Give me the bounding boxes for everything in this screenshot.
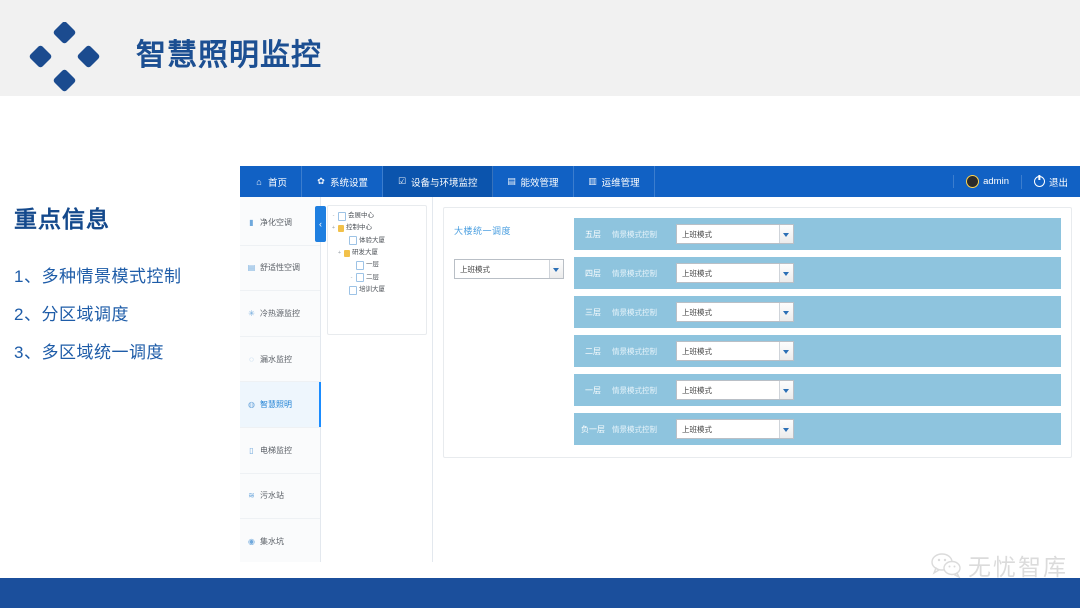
nav-item-home[interactable]: ⌂ 首页 — [240, 166, 302, 197]
floor-mode-select[interactable]: 上班模式 — [676, 419, 794, 439]
device-tree: - 会展中心 + 控制中心 体验大厦 + — [327, 205, 427, 335]
tree-node[interactable]: - 会展中心 — [331, 210, 423, 222]
document-icon — [349, 236, 357, 245]
tree-node-label: 研发大厦 — [352, 247, 378, 259]
tree-node[interactable]: + 控制中心 — [331, 222, 423, 234]
tree-node[interactable]: 培训大厦 — [331, 284, 423, 296]
sidebar-collapse-handle[interactable]: ‹ — [315, 206, 326, 242]
key-info-block: 重点信息 1、多种情景模式控制 2、分区域调度 3、多区域统一调度 — [14, 200, 244, 382]
watermark-text: 无忧智库 — [968, 548, 1068, 582]
scene-mode-control-label: 情景模式控制 — [612, 229, 670, 240]
nav-item-label: 设备与环境监控 — [411, 175, 478, 189]
key-info-item: 2、分区域调度 — [14, 306, 244, 324]
floor-row: 一层 情景模式控制 上班模式 — [574, 374, 1061, 406]
document-icon — [356, 273, 364, 282]
nav-item-label: 运维管理 — [602, 175, 640, 189]
sidebar-item-label: 电梯监控 — [260, 445, 292, 456]
sidebar-item-sump-pit[interactable]: ◉ 集水坑 — [240, 519, 320, 562]
monitor-icon: ☑ — [397, 176, 407, 187]
floor-label: 五层 — [580, 229, 606, 240]
snowflake-icon: ✳ — [247, 309, 256, 318]
floor-mode-select[interactable]: 上班模式 — [676, 263, 794, 283]
sump-icon: ◉ — [247, 537, 256, 546]
tree-node[interactable]: 体验大厦 — [331, 235, 423, 247]
global-mode-select[interactable]: 上班模式 — [454, 259, 564, 279]
footer-bar — [0, 578, 1080, 608]
tree-toggle-icon[interactable]: - — [331, 211, 336, 221]
diamond-logo — [28, 22, 100, 92]
tree-node-label: 体验大厦 — [359, 235, 385, 247]
sidebar-item-label: 净化空调 — [260, 217, 292, 228]
watermark: 无忧智库 — [931, 548, 1068, 582]
floor-label: 三层 — [580, 307, 606, 318]
sidebar-item-label: 冷热源监控 — [260, 308, 300, 319]
ac-icon: ▤ — [247, 263, 256, 272]
bulb-icon: ◍ — [247, 400, 256, 409]
floor-label: 一层 — [580, 385, 606, 396]
power-icon — [1034, 176, 1045, 187]
slide-header: 智慧照明监控 — [0, 0, 1080, 96]
floor-label: 二层 — [580, 346, 606, 357]
app-navbar: ⌂ 首页 ✿ 系统设置 ☑ 设备与环境监控 ▤ 能效管理 ▥ 运维管理 — [240, 166, 1080, 197]
water-drop-icon: ◌ — [247, 355, 256, 364]
floor-row: 二层 情景模式控制 上班模式 — [574, 335, 1061, 367]
floor-rows: 五层 情景模式控制 上班模式 四层 情景模式控制 上班模式 — [574, 218, 1061, 445]
nav-item-label: 系统设置 — [330, 175, 368, 189]
nav-item-system-settings[interactable]: ✿ 系统设置 — [302, 166, 383, 197]
folder-icon — [344, 250, 350, 257]
tree-node-label: 培训大厦 — [359, 284, 385, 296]
wechat-icon — [931, 552, 961, 578]
sidebar-item-label: 集水坑 — [260, 536, 284, 547]
floor-mode-select[interactable]: 上班模式 — [676, 341, 794, 361]
floor-mode-value: 上班模式 — [682, 307, 712, 318]
logout-label: 退出 — [1049, 175, 1068, 189]
floor-row: 四层 情景模式控制 上班模式 — [574, 257, 1061, 289]
wrench-icon: ▥ — [588, 176, 598, 187]
global-schedule-group: 大楼统一调度 上班模式 — [454, 218, 564, 445]
key-info-item: 3、多区域统一调度 — [14, 344, 244, 362]
document-icon — [356, 261, 364, 270]
scene-mode-control-label: 情景模式控制 — [612, 424, 670, 435]
floor-row: 三层 情景模式控制 上班模式 — [574, 296, 1061, 328]
user-menu[interactable]: admin — [953, 175, 1021, 188]
floor-row: 负一层 情景模式控制 上班模式 — [574, 413, 1061, 445]
global-mode-value: 上班模式 — [460, 264, 490, 275]
nav-item-operations-management[interactable]: ▥ 运维管理 — [574, 166, 655, 197]
document-icon — [349, 286, 357, 295]
floor-label: 负一层 — [580, 424, 606, 435]
home-icon: ⌂ — [254, 177, 264, 187]
avatar — [966, 175, 979, 188]
tree-node[interactable]: - 二层 — [331, 272, 423, 284]
content-area: 大楼统一调度 上班模式 五层 情景模式控制 上班模式 — [433, 197, 1080, 562]
sidebar-item-purified-ac[interactable]: ▮ 净化空调 — [240, 200, 320, 246]
floor-mode-select[interactable]: 上班模式 — [676, 224, 794, 244]
user-name: admin — [983, 176, 1009, 187]
sidebar-item-label: 污水站 — [260, 490, 284, 501]
sidebar-item-label: 舒适性空调 — [260, 262, 300, 273]
key-info-item: 1、多种情景模式控制 — [14, 268, 244, 286]
floor-label: 四层 — [580, 268, 606, 279]
sidebar-item-label: 智慧照明 — [260, 399, 292, 410]
app-body: ‹ ▮ 净化空调 ▤ 舒适性空调 ✳ 冷热源监控 ◌ 漏水监控 — [240, 197, 1080, 562]
tree-toggle-icon[interactable]: + — [337, 248, 342, 258]
elevator-icon: ▯ — [247, 446, 256, 455]
scene-mode-control-label: 情景模式控制 — [612, 346, 670, 357]
sidebar-item-leak-monitoring[interactable]: ◌ 漏水监控 — [240, 337, 320, 383]
scene-control-panel: 大楼统一调度 上班模式 五层 情景模式控制 上班模式 — [443, 207, 1072, 458]
sidebar-item-cooling-heating-source[interactable]: ✳ 冷热源监控 — [240, 291, 320, 337]
tree-node-label: 二层 — [366, 272, 379, 284]
floor-mode-value: 上班模式 — [682, 346, 712, 357]
gear-icon: ✿ — [316, 176, 326, 187]
global-schedule-label: 大楼统一调度 — [454, 224, 564, 237]
floor-mode-value: 上班模式 — [682, 385, 712, 396]
scene-mode-control-label: 情景模式控制 — [612, 385, 670, 396]
app-sidebar: ‹ ▮ 净化空调 ▤ 舒适性空调 ✳ 冷热源监控 ◌ 漏水监控 — [240, 197, 321, 562]
fan-icon: ▮ — [247, 218, 256, 227]
sidebar-item-comfort-ac[interactable]: ▤ 舒适性空调 — [240, 246, 320, 292]
nav-spacer — [655, 166, 954, 197]
folder-icon — [338, 225, 344, 232]
tree-node-label: 会展中心 — [348, 210, 374, 222]
tree-toggle-icon[interactable]: + — [331, 223, 336, 233]
nav-item-energy-management[interactable]: ▤ 能效管理 — [493, 166, 574, 197]
floor-mode-value: 上班模式 — [682, 424, 712, 435]
app-screenshot: ⌂ 首页 ✿ 系统设置 ☑ 设备与环境监控 ▤ 能效管理 ▥ 运维管理 — [240, 166, 1080, 562]
nav-item-label: 能效管理 — [521, 175, 559, 189]
floor-mode-value: 上班模式 — [682, 268, 712, 279]
floor-mode-value: 上班模式 — [682, 229, 712, 240]
slide-root: 智慧照明监控 重点信息 1、多种情景模式控制 2、分区域调度 3、多区域统一调度… — [0, 0, 1080, 608]
tree-node[interactable]: + 研发大厦 — [331, 247, 423, 259]
sidebar-item-sewage-station[interactable]: ≋ 污水站 — [240, 474, 320, 520]
key-info-title: 重点信息 — [14, 200, 244, 234]
floor-mode-select[interactable]: 上班模式 — [676, 380, 794, 400]
nav-item-label: 首页 — [268, 175, 287, 189]
logout-button[interactable]: 退出 — [1021, 175, 1080, 189]
sidebar-item-smart-lighting[interactable]: ◍ 智慧照明 — [240, 382, 320, 428]
tree-pane: - 会展中心 + 控制中心 体验大厦 + — [321, 197, 433, 562]
floor-row: 五层 情景模式控制 上班模式 — [574, 218, 1061, 250]
sidebar-item-label: 漏水监控 — [260, 354, 292, 365]
floor-mode-select[interactable]: 上班模式 — [676, 302, 794, 322]
nav-item-device-environment-monitoring[interactable]: ☑ 设备与环境监控 — [383, 166, 493, 197]
tree-node-label: 一层 — [366, 259, 379, 271]
scene-mode-control-label: 情景模式控制 — [612, 268, 670, 279]
sidebar-item-elevator-monitoring[interactable]: ▯ 电梯监控 — [240, 428, 320, 474]
document-icon — [338, 212, 346, 221]
tree-node-label: 控制中心 — [346, 222, 372, 234]
page-title: 智慧照明监控 — [136, 30, 322, 74]
chart-icon: ▤ — [507, 176, 517, 187]
tree-toggle-icon[interactable]: - — [349, 273, 354, 283]
sewage-icon: ≋ — [247, 491, 256, 500]
scene-mode-control-label: 情景模式控制 — [612, 307, 670, 318]
nav-right-group: admin 退出 — [953, 166, 1080, 197]
tree-node[interactable]: 一层 — [331, 259, 423, 271]
